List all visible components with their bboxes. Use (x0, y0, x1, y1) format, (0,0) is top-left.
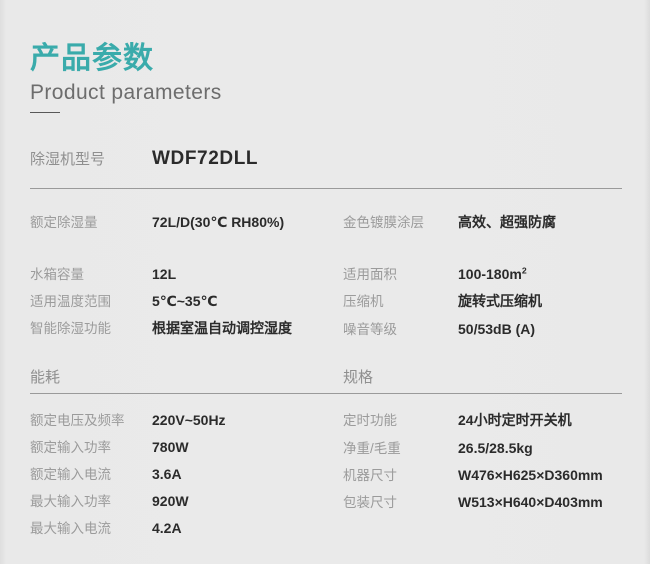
spec-row: 机器尺寸 W476×H625×D360mm (343, 464, 603, 484)
spec-row: 水箱容量 12L (30, 263, 292, 283)
smart-dehumidify-label: 智能除湿功能 (30, 317, 152, 337)
compressor-label: 压缩机 (343, 290, 458, 310)
machine-dimensions-value: W476×H625×D360mm (458, 467, 603, 483)
spec-section-title: 规格 (343, 366, 373, 387)
energy-section-heading-wrap: 能耗 (30, 366, 60, 387)
energy-block: 额定电压及频率 220V~50Hz 额定输入功率 780W 额定输入电流 3.6… (30, 409, 226, 537)
smart-dehumidify-value: 根据室温自动调控湿度 (152, 318, 292, 338)
spec-row: 包装尺寸 W513×H640×D403mm (343, 491, 603, 511)
tank-capacity-value: 12L (152, 266, 176, 282)
max-current-value: 4.2A (152, 520, 182, 536)
spec-row: 净重/毛重 26.5/28.5kg (343, 437, 603, 457)
spec-row: 额定输入电流 3.6A (30, 463, 226, 483)
page-title-en: Product parameters (30, 81, 222, 105)
gold-coating-label: 金色镀膜涂层 (343, 211, 458, 231)
divider-top (30, 188, 622, 189)
spec-row: 最大输入功率 920W (30, 490, 226, 510)
package-dimensions-label: 包装尺寸 (343, 491, 458, 511)
spec-row: 额定除湿量 72L/D(30℃ RH80%) (30, 211, 284, 231)
rated-current-label: 额定输入电流 (30, 463, 152, 483)
rated-voltage-value: 220V~50Hz (152, 412, 226, 428)
page-header: 产品参数 Product parameters (30, 42, 222, 113)
gold-coating-value: 高效、超强防腐 (458, 212, 556, 232)
spec-section-heading-wrap: 规格 (343, 366, 373, 387)
spec-row: 压缩机 旋转式压缩机 (343, 290, 542, 311)
timer-function-label: 定时功能 (343, 409, 458, 429)
energy-section-title: 能耗 (30, 366, 60, 387)
noise-level-value: 50/53dB (A) (458, 321, 535, 337)
square-meter-superscript: 2 (522, 265, 527, 275)
weight-label: 净重/毛重 (343, 437, 458, 457)
temperature-range-label: 适用温度范围 (30, 290, 152, 310)
page-title-cn: 产品参数 (30, 42, 222, 77)
model-number-row: 除湿机型号WDF72DLL (30, 148, 258, 170)
spec-row: 适用温度范围 5℃~35℃ (30, 290, 292, 310)
max-current-label: 最大输入电流 (30, 517, 152, 537)
rated-current-value: 3.6A (152, 466, 182, 482)
spec-row: 最大输入电流 4.2A (30, 517, 226, 537)
product-parameters-page: 产品参数 Product parameters 除湿机型号WDF72DLL 额定… (0, 0, 650, 564)
temperature-range-value: 5℃~35℃ (152, 293, 217, 310)
specs-block: 定时功能 24小时定时开关机 净重/毛重 26.5/28.5kg 机器尺寸 W4… (343, 409, 603, 511)
machine-dimensions-label: 机器尺寸 (343, 464, 458, 484)
spec-row: 金色镀膜涂层 高效、超强防腐 (343, 211, 556, 232)
coating-block: 金色镀膜涂层 高效、超强防腐 (343, 211, 556, 232)
capacity-block: 额定除湿量 72L/D(30℃ RH80%) (30, 211, 284, 231)
rated-power-value: 780W (152, 439, 189, 455)
max-power-label: 最大输入功率 (30, 490, 152, 510)
package-dimensions-value: W513×H640×D403mm (458, 494, 603, 510)
rated-power-label: 额定输入功率 (30, 436, 152, 456)
timer-function-value: 24小时定时开关机 (458, 410, 572, 430)
spec-row: 噪音等级 50/53dB (A) (343, 318, 542, 338)
spec-row: 额定电压及频率 220V~50Hz (30, 409, 226, 429)
noise-level-label: 噪音等级 (343, 318, 458, 338)
rated-dehumidification-value: 72L/D(30℃ RH80%) (152, 214, 284, 231)
weight-value: 26.5/28.5kg (458, 440, 533, 456)
middle-right-block: 适用面积 100-180m2 压缩机 旋转式压缩机 噪音等级 50/53dB (… (343, 263, 542, 338)
spec-row: 适用面积 100-180m2 (343, 263, 542, 283)
spec-row: 额定输入功率 780W (30, 436, 226, 456)
divider-bottom (30, 393, 622, 394)
compressor-value: 旋转式压缩机 (458, 291, 542, 311)
title-underline (30, 112, 60, 113)
rated-voltage-label: 额定电压及频率 (30, 409, 152, 429)
max-power-value: 920W (152, 493, 189, 509)
middle-left-block: 水箱容量 12L 适用温度范围 5℃~35℃ 智能除湿功能 根据室温自动调控湿度 (30, 263, 292, 338)
model-number-label: 除湿机型号 (30, 148, 152, 169)
model-number-value: WDF72DLL (152, 148, 258, 169)
spec-row: 智能除湿功能 根据室温自动调控湿度 (30, 317, 292, 338)
coverage-area-label: 适用面积 (343, 263, 458, 283)
rated-dehumidification-label: 额定除湿量 (30, 211, 152, 231)
spec-row: 定时功能 24小时定时开关机 (343, 409, 603, 430)
coverage-area-value: 100-180m2 (458, 266, 527, 282)
tank-capacity-label: 水箱容量 (30, 263, 152, 283)
